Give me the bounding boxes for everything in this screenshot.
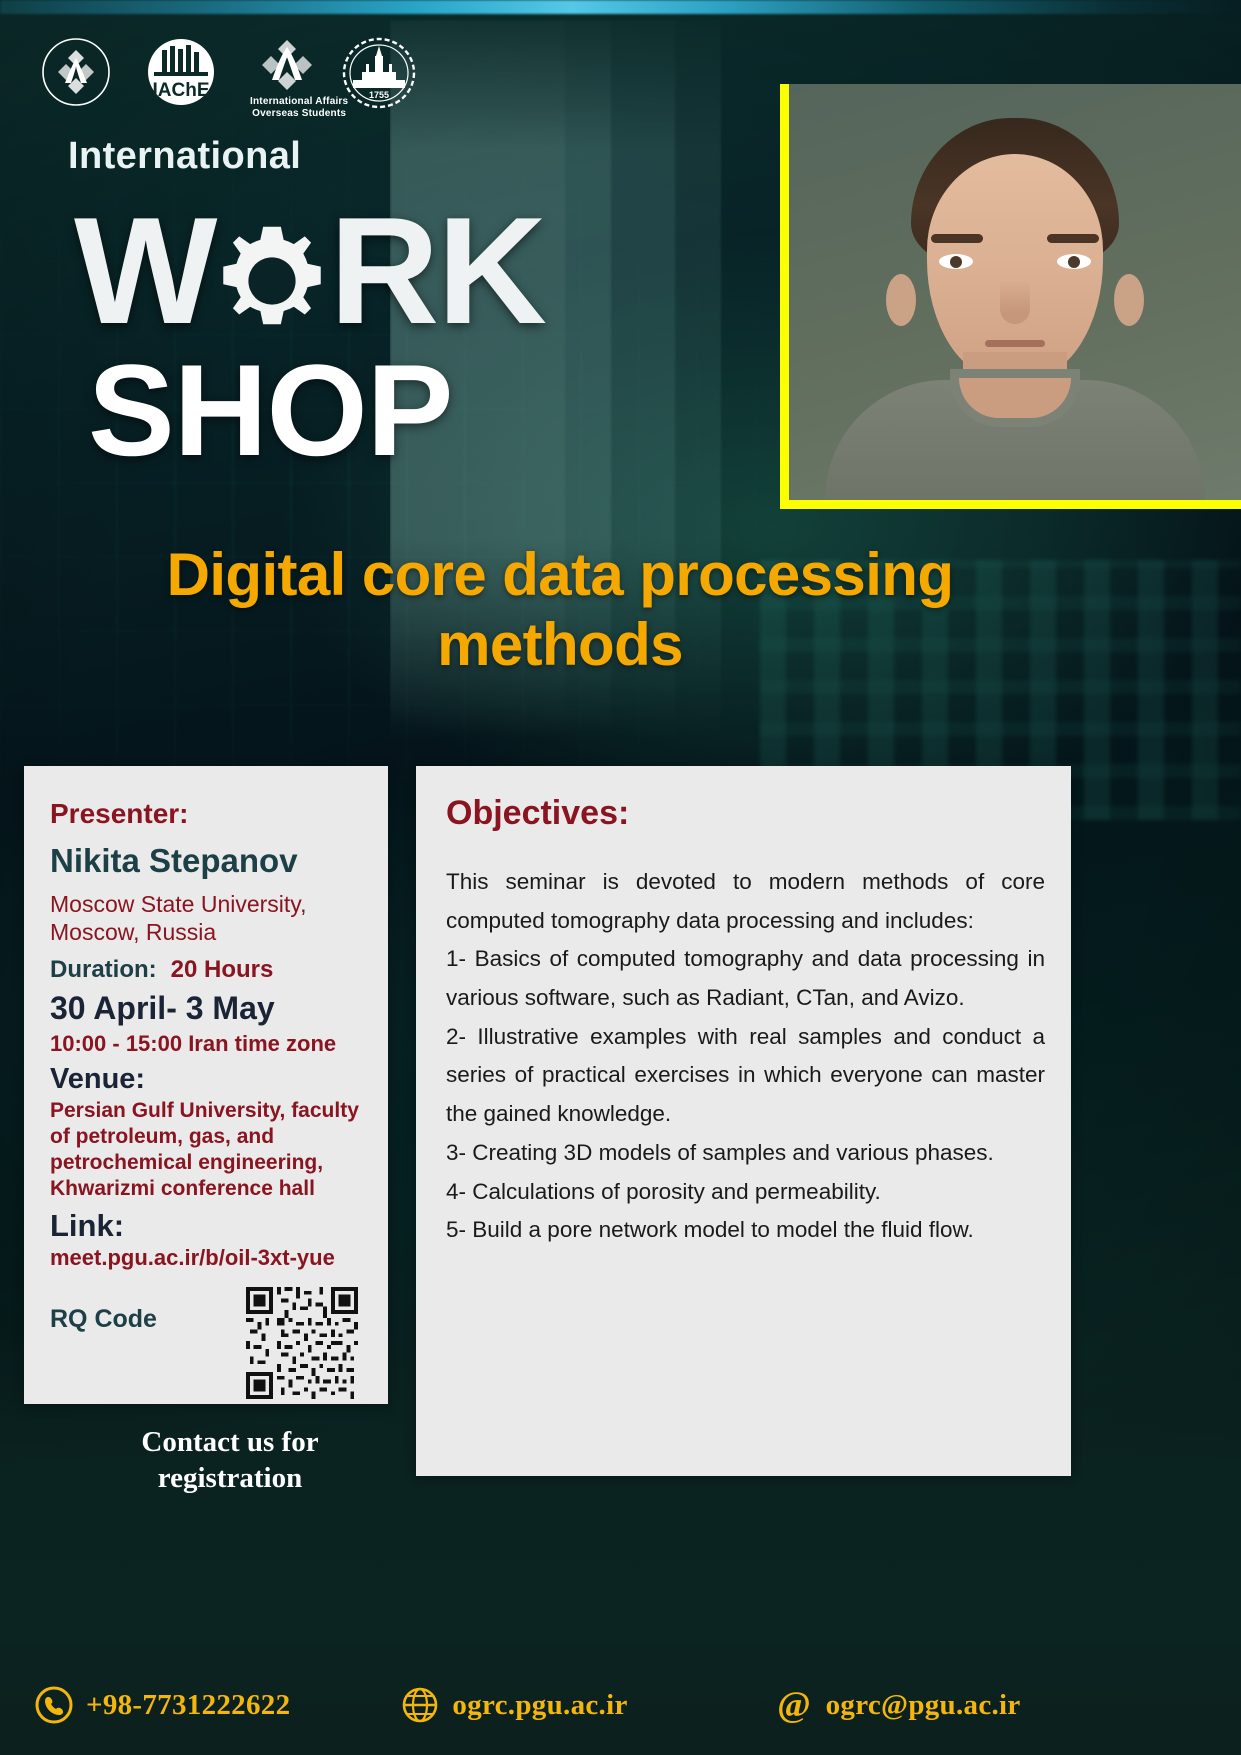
objectives-body: This seminar is devoted to modern method…	[446, 863, 1045, 1250]
qr-label: RQ Code	[50, 1287, 157, 1334]
objectives-intro: This seminar is devoted to modern method…	[446, 863, 1045, 940]
objective-item: 3- Creating 3D models of samples and var…	[446, 1134, 1045, 1173]
svg-text:@: @	[777, 1685, 811, 1724]
objective-item: 5- Build a pore network model to model t…	[446, 1211, 1045, 1250]
contact-phone-text: +98-7731222622	[86, 1689, 290, 1722]
poster-subtitle: Digital core data processing methods	[50, 540, 1070, 679]
duration-row: Duration: 20 Hours	[50, 956, 366, 984]
venue-label: Venue:	[50, 1063, 366, 1096]
presenter-portrait	[780, 84, 1241, 509]
contact-email[interactable]: @ ogrc@pgu.ac.ir	[774, 1685, 1021, 1725]
portrait-eye-right	[1057, 254, 1091, 269]
portrait-brow-left	[931, 234, 983, 243]
portrait-mouth	[985, 340, 1045, 347]
headline-work-rk: RK	[329, 195, 545, 347]
globe-icon	[400, 1685, 440, 1725]
iache-logo: IAChE	[144, 36, 218, 108]
workshop-dates: 30 April- 3 May	[50, 990, 366, 1027]
gear-icon	[213, 212, 331, 330]
headline-work: W RK	[74, 195, 545, 347]
phone-icon	[34, 1685, 74, 1725]
headline-shop: SHOP	[88, 345, 452, 475]
moscow-state-university-logo: 1755	[340, 36, 418, 110]
portrait-ear-right	[1114, 274, 1144, 326]
portrait-brow-right	[1047, 234, 1099, 243]
presenter-name: Nikita Stepanov	[50, 842, 366, 880]
contact-footer: +98-7731222622 ogrc.pgu.ac.ir @ ogrc@	[0, 1655, 1241, 1755]
portrait-nose	[1000, 280, 1030, 324]
international-affairs-logo: International AffairsOverseas Students	[250, 36, 348, 120]
presenter-label: Presenter:	[50, 798, 366, 830]
logo-row: IAChE International AffairsOverseas Stud…	[40, 22, 440, 122]
workshop-poster: IAChE International AffairsOverseas Stud…	[0, 0, 1241, 1755]
eyebrow-international: International	[68, 135, 301, 178]
duration-value: 20 Hours	[171, 956, 274, 984]
contact-email-text: ogrc@pgu.ac.ir	[826, 1689, 1021, 1722]
international-affairs-logo-caption: International AffairsOverseas Students	[250, 96, 348, 120]
presenter-info-card: Presenter: Nikita Stepanov Moscow State …	[24, 766, 388, 1404]
contact-phone[interactable]: +98-7731222622	[34, 1685, 290, 1725]
link-label: Link:	[50, 1208, 366, 1244]
objective-item: 4- Calculations of porosity and permeabi…	[446, 1173, 1045, 1212]
presenter-affiliation: Moscow State University, Moscow, Russia	[50, 890, 366, 946]
headline-work-w: W	[74, 195, 215, 347]
objective-item: 2- Illustrative examples with real sampl…	[446, 1018, 1045, 1134]
contact-website-text: ogrc.pgu.ac.ir	[452, 1689, 627, 1722]
qr-row: RQ Code	[50, 1287, 366, 1399]
venue-value: Persian Gulf University, faculty of petr…	[50, 1098, 366, 1202]
workshop-time: 10:00 - 15:00 Iran time zone	[50, 1031, 366, 1057]
objectives-card: Objectives: This seminar is devoted to m…	[416, 766, 1071, 1476]
pgu-oil-gas-research-center-logo	[40, 36, 112, 108]
contact-website[interactable]: ogrc.pgu.ac.ir	[400, 1685, 627, 1725]
portrait-ear-left	[886, 274, 916, 326]
background-top-glow	[0, 0, 1241, 14]
duration-label: Duration:	[50, 956, 157, 984]
qr-code-image[interactable]	[238, 1287, 366, 1399]
svg-text:1755: 1755	[369, 90, 389, 100]
objective-item: 1- Basics of computed tomography and dat…	[446, 940, 1045, 1017]
at-sign-icon: @	[774, 1685, 814, 1725]
contact-call-to-action: Contact us for registration	[80, 1424, 380, 1497]
svg-text:IAChE: IAChE	[153, 80, 210, 101]
portrait-eye-left	[939, 254, 973, 269]
link-value[interactable]: meet.pgu.ac.ir/b/oil-3xt-yue	[50, 1245, 366, 1271]
objectives-label: Objectives:	[446, 794, 1045, 833]
